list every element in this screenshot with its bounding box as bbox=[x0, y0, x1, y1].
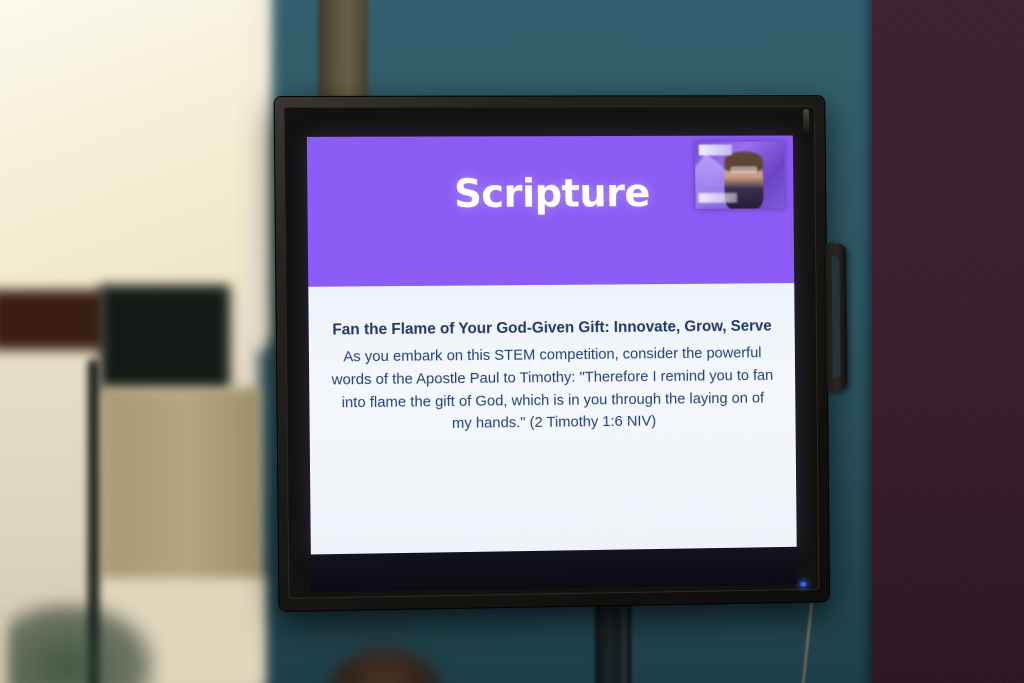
slide-body-area: Fan the Flame of Your God-Given Gift: In… bbox=[308, 283, 796, 554]
ir-sensor-icon bbox=[803, 109, 809, 133]
screen-surface[interactable]: Scripture Fan the Flame of Your God-Give… bbox=[307, 135, 797, 554]
background-dark-block-left bbox=[0, 290, 105, 350]
presenter-video-tile[interactable] bbox=[695, 141, 785, 208]
cream-wall-edge bbox=[250, 0, 266, 350]
slide-subheading: Fan the Flame of Your God-Given Gift: In… bbox=[331, 317, 774, 342]
background-dark-block-right bbox=[100, 285, 230, 390]
background-tan-panel bbox=[100, 388, 260, 588]
foreground-plant bbox=[8, 600, 158, 683]
video-tile-name-label bbox=[698, 193, 737, 203]
display-handle-gap bbox=[832, 256, 841, 378]
flat-panel-display: Scripture Fan the Flame of Your God-Give… bbox=[275, 96, 830, 611]
power-led-icon bbox=[801, 582, 806, 586]
room-scene: Scripture Fan the Flame of Your God-Give… bbox=[0, 0, 1024, 683]
slide-body-text: As you embark on this STEM competition, … bbox=[331, 342, 775, 437]
video-tile-logo bbox=[699, 145, 732, 156]
plum-wall-panel bbox=[872, 0, 1024, 683]
presenter-glasses-icon bbox=[730, 166, 757, 173]
slide-body-inner: Fan the Flame of Your God-Given Gift: In… bbox=[331, 317, 775, 438]
display-stand-seam bbox=[621, 600, 627, 683]
